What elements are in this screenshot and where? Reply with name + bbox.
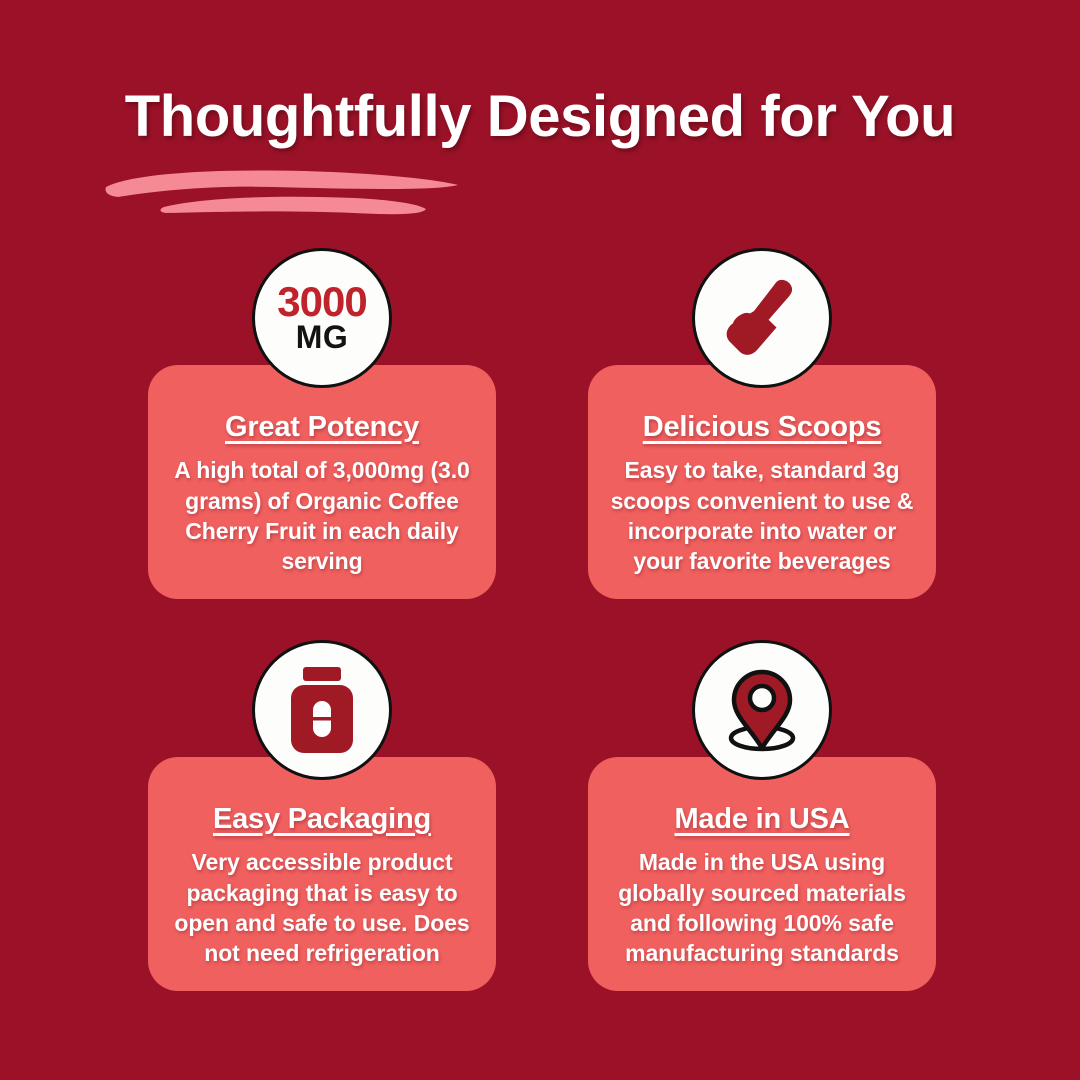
header: Thoughtfully Designed for You [0, 0, 1080, 230]
feature-card: Delicious Scoops Easy to take, standard … [588, 365, 936, 599]
feature-card: Easy Packaging Very accessible product p… [148, 757, 496, 991]
feature-card-title: Delicious Scoops [602, 411, 922, 444]
feature-card-title: Made in USA [602, 803, 922, 836]
page-title: Thoughtfully Designed for You [0, 88, 1080, 146]
feature-card: Made in USA Made in the USA using global… [588, 757, 936, 991]
feature-card-title: Great Potency [162, 411, 482, 444]
supplement-bottle-badge [252, 640, 392, 780]
feature-card: Great Potency A high total of 3,000mg (3… [148, 365, 496, 599]
scoop-badge [692, 248, 832, 388]
badge-mg-stack: 3000 MG [277, 283, 366, 352]
infographic-page: Thoughtfully Designed for You 3000 MG Gr… [0, 0, 1080, 1080]
badge-mg-unit: MG [296, 323, 349, 352]
map-pin-icon [714, 662, 810, 758]
supplement-bottle-icon [279, 663, 365, 757]
feature-card-body: Easy to take, standard 3g scoops conveni… [602, 455, 922, 576]
dosage-3000mg-badge: 3000 MG [252, 248, 392, 388]
map-pin-badge [692, 640, 832, 780]
scoop-icon [716, 272, 808, 364]
feature-card-title: Easy Packaging [162, 803, 482, 836]
feature-card-body: Very accessible product packaging that i… [162, 847, 482, 968]
feature-card-body: Made in the USA using globally sourced m… [602, 847, 922, 968]
title-underline-swoosh [104, 163, 460, 217]
badge-mg-number: 3000 [277, 283, 366, 322]
feature-card-body: A high total of 3,000mg (3.0 grams) of O… [162, 455, 482, 576]
